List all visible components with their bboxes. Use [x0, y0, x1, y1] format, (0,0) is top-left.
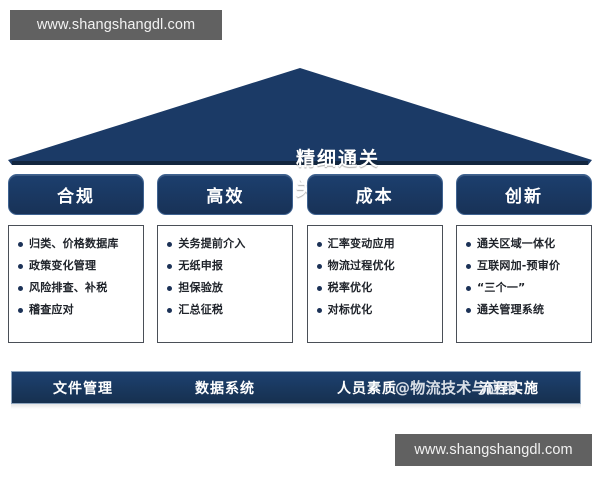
- list-item-label: 汇率变动应用: [328, 238, 395, 249]
- pillar-body-efficiency: 关务提前介入 无纸申报 担保验放 汇总征税: [157, 225, 293, 343]
- list-item-label: 通关管理系统: [477, 304, 544, 315]
- list-item: 互联网加-预审价: [466, 260, 585, 271]
- list-item: 汇率变动应用: [317, 238, 436, 249]
- pillar-body-cost: 汇率变动应用 物流过程优化 税率优化 对标优化: [307, 225, 443, 343]
- watermark-top: www.shangshangdl.com: [10, 10, 222, 40]
- watermark-bottom: www.shangshangdl.com: [395, 434, 592, 466]
- list-item-label: 关务提前介入: [178, 238, 245, 249]
- pillar-header-efficiency[interactable]: 高效: [157, 174, 293, 215]
- bullet-icon: [167, 308, 172, 313]
- list-item-label: 通关区域一体化: [477, 238, 555, 249]
- list-item-label: 汇总征税: [178, 304, 223, 315]
- list-item-label: 对标优化: [328, 304, 373, 315]
- list-item-label: 政策变化管理: [29, 260, 96, 271]
- list-item-label: 物流过程优化: [328, 260, 395, 271]
- foundation-item-document: 文件管理: [53, 378, 113, 398]
- bullet-icon: [317, 242, 322, 247]
- foundation-bar: 文件管理 数据系统 人员素质 流程实施: [11, 371, 581, 404]
- bullet-icon: [18, 308, 23, 313]
- list-item: 无纸申报: [167, 260, 286, 271]
- list-item-label: “三个一”: [477, 282, 525, 293]
- bullet-icon: [466, 286, 471, 291]
- bullet-icon: [466, 242, 471, 247]
- bullet-icon: [317, 264, 322, 269]
- bullet-icon: [317, 308, 322, 313]
- foundation-item-personnel: 人员素质: [337, 378, 397, 398]
- bullet-icon: [18, 286, 23, 291]
- list-item: 风险排查、补税: [18, 282, 137, 293]
- list-item: 关务提前介入: [167, 238, 286, 249]
- bullet-icon: [18, 242, 23, 247]
- bullet-icon: [167, 242, 172, 247]
- bullet-icon: [167, 286, 172, 291]
- list-item-label: 税率优化: [328, 282, 373, 293]
- watermark-top-text: www.shangshangdl.com: [37, 17, 195, 33]
- list-item-label: 互联网加-预审价: [477, 260, 560, 271]
- pillar-body-compliance: 归类、价格数据库 政策变化管理 风险排查、补税 稽查应对: [8, 225, 144, 343]
- bullet-icon: [167, 264, 172, 269]
- roof-container: 精细通关 关务合规: [0, 62, 600, 168]
- list-item: 税率优化: [317, 282, 436, 293]
- pillar-header-cost[interactable]: 成本: [307, 174, 443, 215]
- pillar-header-innovation[interactable]: 创新: [456, 174, 592, 215]
- list-item: 对标优化: [317, 304, 436, 315]
- list-item-label: 归类、价格数据库: [29, 238, 119, 249]
- list-item-label: 风险排查、补税: [29, 282, 107, 293]
- list-item: 通关管理系统: [466, 304, 585, 315]
- list-item: 稽查应对: [18, 304, 137, 315]
- list-item-label: 无纸申报: [178, 260, 223, 271]
- bullet-icon: [466, 308, 471, 313]
- bullet-icon: [18, 264, 23, 269]
- bullet-icon: [466, 264, 471, 269]
- list-item-label: 担保验放: [178, 282, 223, 293]
- pillar-innovation: 创新 通关区域一体化 互联网加-预审价 “三个一” 通关管理系统: [456, 174, 592, 343]
- list-item-label: 稽查应对: [29, 304, 74, 315]
- list-item: 归类、价格数据库: [18, 238, 137, 249]
- pillar-cost: 成本 汇率变动应用 物流过程优化 税率优化 对标优化: [307, 174, 443, 343]
- list-item: 物流过程优化: [317, 260, 436, 271]
- pillar-compliance: 合规 归类、价格数据库 政策变化管理 风险排查、补税 稽查应对: [8, 174, 144, 343]
- list-item: 担保验放: [167, 282, 286, 293]
- foundation-item-data: 数据系统: [195, 378, 255, 398]
- list-item: 通关区域一体化: [466, 238, 585, 249]
- watermark-bottom-text: www.shangshangdl.com: [414, 442, 572, 458]
- pillars-row: 合规 归类、价格数据库 政策变化管理 风险排查、补税 稽查应对 高效: [8, 174, 592, 343]
- foundation-item-process: 流程实施: [479, 378, 539, 398]
- pillar-efficiency: 高效 关务提前介入 无纸申报 担保验放 汇总征税: [157, 174, 293, 343]
- pillar-body-innovation: 通关区域一体化 互联网加-预审价 “三个一” 通关管理系统: [456, 225, 592, 343]
- foundation-shadow: [11, 404, 581, 409]
- bullet-icon: [317, 286, 322, 291]
- list-item: “三个一”: [466, 282, 585, 293]
- pillar-header-compliance[interactable]: 合规: [8, 174, 144, 215]
- list-item: 政策变化管理: [18, 260, 137, 271]
- list-item: 汇总征税: [167, 304, 286, 315]
- roof-triangle-icon: [0, 62, 600, 168]
